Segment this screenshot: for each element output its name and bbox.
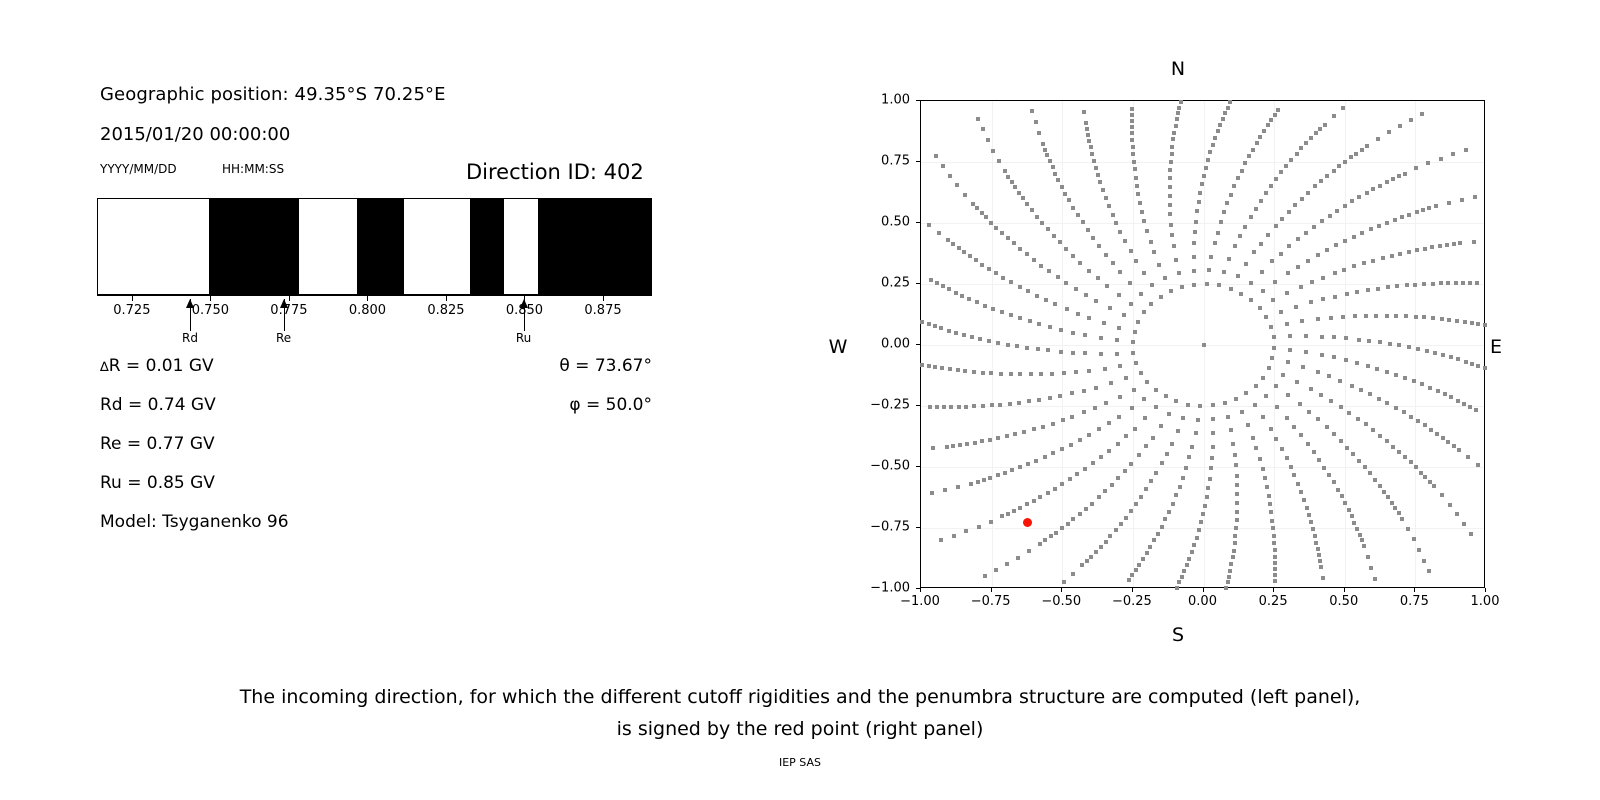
grid-point bbox=[1364, 314, 1368, 318]
grid-point bbox=[927, 322, 931, 326]
grid-point bbox=[1064, 247, 1068, 251]
grid-point bbox=[1316, 253, 1320, 257]
grid-point bbox=[1226, 580, 1230, 584]
grid-point bbox=[1270, 356, 1274, 360]
grid-point bbox=[1235, 501, 1239, 505]
grid-point bbox=[1016, 556, 1020, 560]
grid-point bbox=[1003, 471, 1007, 475]
grid-point bbox=[1267, 494, 1271, 498]
grid-point bbox=[1071, 254, 1075, 258]
grid-point bbox=[1232, 549, 1236, 553]
grid-point bbox=[1087, 433, 1091, 437]
grid-point bbox=[1288, 348, 1292, 352]
grid-point bbox=[1391, 445, 1395, 449]
grid-point bbox=[1094, 166, 1098, 170]
grid-point bbox=[1448, 503, 1452, 507]
grid-point bbox=[1159, 424, 1163, 428]
grid-point bbox=[1193, 230, 1197, 234]
grid-point bbox=[1131, 145, 1135, 149]
grid-point bbox=[1203, 504, 1207, 508]
grid-point bbox=[1223, 111, 1227, 115]
grid-point bbox=[1116, 476, 1120, 480]
compass-west-label: W bbox=[829, 336, 848, 358]
parameter-line: Re = 0.77 GV bbox=[100, 434, 215, 454]
grid-point bbox=[1309, 300, 1313, 304]
grid-point bbox=[1022, 430, 1026, 434]
grid-point bbox=[987, 267, 991, 271]
grid-point bbox=[1222, 270, 1226, 274]
grid-point bbox=[927, 364, 931, 368]
grid-point bbox=[1307, 513, 1311, 517]
grid-point bbox=[1232, 184, 1236, 188]
grid-point bbox=[1093, 406, 1097, 410]
grid-point bbox=[1292, 473, 1296, 477]
grid-point bbox=[1266, 233, 1270, 237]
grid-point bbox=[1061, 418, 1065, 422]
x-tick-label: −0.25 bbox=[1112, 594, 1152, 609]
grid-point bbox=[1264, 315, 1268, 319]
grid-point bbox=[1464, 360, 1468, 364]
grid-point bbox=[1078, 512, 1082, 516]
grid-point bbox=[1347, 411, 1351, 415]
grid-point bbox=[1134, 361, 1138, 365]
grid-point bbox=[1206, 158, 1210, 162]
grid-point bbox=[1163, 276, 1167, 280]
grid-point bbox=[1091, 236, 1095, 240]
grid-point bbox=[1118, 230, 1122, 234]
grid-point bbox=[1177, 271, 1181, 275]
grid-point bbox=[1458, 241, 1462, 245]
grid-point bbox=[1362, 261, 1366, 265]
grid-point bbox=[1086, 228, 1090, 232]
grid-point bbox=[1051, 451, 1055, 455]
grid-point bbox=[1385, 370, 1389, 374]
grid-point bbox=[1415, 248, 1419, 252]
grid-point bbox=[1321, 276, 1325, 280]
penumbra-band-forbidden bbox=[470, 199, 504, 294]
grid-point bbox=[1470, 321, 1474, 325]
y-tick bbox=[916, 161, 920, 162]
grid-point bbox=[1447, 318, 1451, 322]
grid-point bbox=[1142, 310, 1146, 314]
parameter-line: Ru = 0.85 GV bbox=[100, 473, 215, 493]
grid-point bbox=[1021, 196, 1025, 200]
grid-point bbox=[1198, 404, 1202, 408]
grid-point bbox=[1204, 166, 1208, 170]
grid-point bbox=[1261, 467, 1265, 471]
rigidity-marker-label-rd: Rd bbox=[182, 331, 198, 345]
grid-point bbox=[1373, 577, 1377, 581]
grid-point bbox=[1377, 397, 1381, 401]
grid-point bbox=[1407, 345, 1411, 349]
grid-point bbox=[1352, 521, 1356, 525]
grid-point bbox=[1234, 397, 1238, 401]
grid-point bbox=[1117, 326, 1121, 330]
grid-point bbox=[934, 154, 938, 158]
caption-line-1: The incoming direction, for which the di… bbox=[240, 686, 1361, 708]
grid-point bbox=[1137, 563, 1141, 567]
grid-point bbox=[1251, 436, 1255, 440]
grid-point bbox=[1259, 242, 1263, 246]
grid-point bbox=[1056, 275, 1060, 279]
grid-point bbox=[963, 369, 967, 373]
grid-point bbox=[1312, 225, 1316, 229]
grid-point bbox=[1229, 193, 1233, 197]
grid-point bbox=[1289, 158, 1293, 162]
grid-point bbox=[1030, 208, 1034, 212]
grid-point bbox=[1117, 293, 1121, 297]
penumbra-tick-label: 0.750 bbox=[192, 303, 229, 318]
grid-point bbox=[1369, 227, 1373, 231]
grid-point bbox=[1345, 446, 1349, 450]
grid-point bbox=[931, 446, 935, 450]
grid-point bbox=[1205, 495, 1209, 499]
grid-point bbox=[1382, 490, 1386, 494]
grid-point bbox=[1431, 316, 1435, 320]
grid-point bbox=[1218, 123, 1222, 127]
grid-point bbox=[1228, 100, 1232, 104]
y-tick bbox=[916, 527, 920, 528]
grid-point bbox=[1140, 210, 1144, 214]
grid-point bbox=[1425, 349, 1429, 353]
grid-point bbox=[1136, 192, 1140, 196]
grid-point bbox=[1149, 240, 1153, 244]
grid-point bbox=[1473, 195, 1477, 199]
y-tick bbox=[916, 283, 920, 284]
grid-point bbox=[1005, 434, 1009, 438]
grid-point bbox=[996, 436, 1000, 440]
grid-point bbox=[1247, 154, 1251, 158]
grid-point bbox=[1350, 514, 1354, 518]
grid-point bbox=[920, 320, 924, 324]
grid-point bbox=[1376, 287, 1380, 291]
grid-point bbox=[1456, 357, 1460, 361]
grid-point bbox=[1096, 173, 1100, 177]
grid-point bbox=[1080, 563, 1084, 567]
x-tick-label: −1.00 bbox=[900, 594, 940, 609]
grid-point bbox=[1134, 176, 1138, 180]
grid-point bbox=[1409, 118, 1413, 122]
grid-point bbox=[1243, 225, 1247, 229]
grid-point bbox=[1385, 401, 1389, 405]
grid-point bbox=[1154, 405, 1158, 409]
grid-point bbox=[1285, 322, 1289, 326]
grid-point bbox=[1003, 169, 1007, 173]
grid-point bbox=[1233, 534, 1237, 538]
grid-point bbox=[1286, 271, 1290, 275]
grid-point bbox=[1135, 184, 1139, 188]
grid-point bbox=[1263, 476, 1267, 480]
grid-point bbox=[1325, 248, 1329, 252]
grid-point bbox=[1180, 285, 1184, 289]
grid-point bbox=[928, 405, 932, 409]
grid-point bbox=[1229, 287, 1233, 291]
grid-point bbox=[1169, 160, 1173, 164]
grid-point bbox=[1039, 372, 1043, 376]
grid-point bbox=[1000, 310, 1004, 314]
gridline-vertical bbox=[1345, 101, 1346, 587]
grid-point bbox=[1172, 131, 1176, 135]
grid-point bbox=[1108, 534, 1112, 538]
grid-point bbox=[1170, 442, 1174, 446]
grid-point bbox=[1053, 172, 1057, 176]
grid-point bbox=[1414, 315, 1418, 319]
grid-point bbox=[1313, 184, 1317, 188]
grid-point bbox=[1274, 437, 1278, 441]
grid-point bbox=[933, 365, 937, 369]
grid-point bbox=[1327, 374, 1331, 378]
grid-point bbox=[1360, 231, 1364, 235]
grid-point bbox=[1167, 510, 1171, 514]
grid-point bbox=[1318, 559, 1322, 563]
grid-point bbox=[1343, 160, 1347, 164]
grid-point bbox=[1317, 458, 1321, 462]
grid-point bbox=[1439, 281, 1443, 285]
grid-point bbox=[1053, 302, 1057, 306]
grid-point bbox=[1274, 177, 1278, 181]
grid-point bbox=[1097, 495, 1101, 499]
geographic-position-label: Geographic position: 49.35°S 70.25°E bbox=[100, 84, 446, 105]
grid-point bbox=[1356, 417, 1360, 421]
compass-north-label: N bbox=[1171, 58, 1185, 80]
grid-point bbox=[1142, 271, 1146, 275]
grid-point bbox=[1235, 510, 1239, 514]
grid-point bbox=[1129, 509, 1133, 513]
grid-point bbox=[1101, 188, 1105, 192]
grid-point bbox=[1316, 317, 1320, 321]
grid-point bbox=[1307, 410, 1311, 414]
grid-point bbox=[1194, 431, 1198, 435]
grid-point bbox=[1398, 124, 1402, 128]
grid-point bbox=[1466, 455, 1470, 459]
grid-point bbox=[1145, 229, 1149, 233]
grid-point bbox=[1385, 221, 1389, 225]
grid-point bbox=[1312, 450, 1316, 454]
grid-point bbox=[1306, 191, 1310, 195]
grid-point bbox=[1304, 334, 1308, 338]
grid-point bbox=[1347, 508, 1351, 512]
y-tick bbox=[916, 222, 920, 223]
grid-point bbox=[1316, 547, 1320, 551]
grid-point bbox=[1419, 471, 1423, 475]
grid-point bbox=[1365, 144, 1369, 148]
grid-point bbox=[1182, 569, 1186, 573]
grid-point bbox=[935, 281, 939, 285]
grid-point bbox=[1329, 399, 1333, 403]
grid-point bbox=[1168, 185, 1172, 189]
grid-point bbox=[1083, 467, 1087, 471]
grid-point bbox=[1273, 113, 1277, 117]
x-tick-label: −0.50 bbox=[1041, 594, 1081, 609]
grid-point bbox=[1107, 449, 1111, 453]
grid-point bbox=[1233, 541, 1237, 545]
grid-point bbox=[963, 193, 967, 197]
grid-point bbox=[1363, 465, 1367, 469]
grid-point bbox=[1430, 245, 1434, 249]
grid-point bbox=[1118, 270, 1122, 274]
grid-point bbox=[1266, 123, 1270, 127]
grid-point bbox=[1273, 561, 1277, 565]
grid-point bbox=[1099, 352, 1103, 356]
grid-point bbox=[1071, 517, 1075, 521]
gridline-vertical bbox=[992, 101, 993, 587]
grid-point bbox=[1187, 557, 1191, 561]
grid-point bbox=[1192, 283, 1196, 287]
grid-point bbox=[1154, 471, 1158, 475]
grid-point bbox=[1258, 306, 1262, 310]
grid-point bbox=[1385, 314, 1389, 318]
grid-point bbox=[1109, 381, 1113, 385]
grid-point bbox=[1462, 402, 1466, 406]
grid-point bbox=[1096, 276, 1100, 280]
grid-point bbox=[1084, 293, 1088, 297]
grid-point bbox=[1457, 448, 1461, 452]
grid-point bbox=[1160, 525, 1164, 529]
grid-point bbox=[1258, 457, 1262, 461]
grid-point bbox=[1115, 352, 1119, 356]
y-tick bbox=[916, 100, 920, 101]
grid-point bbox=[1192, 543, 1196, 547]
grid-point bbox=[991, 149, 995, 153]
grid-point bbox=[1270, 259, 1274, 263]
grid-point bbox=[1337, 164, 1341, 168]
parameter-line: ∆R = 0.01 GV bbox=[100, 356, 214, 376]
grid-point bbox=[1198, 191, 1202, 195]
gridline-vertical bbox=[1274, 101, 1275, 587]
grid-point bbox=[1327, 473, 1331, 477]
grid-point bbox=[929, 278, 933, 282]
grid-point bbox=[1440, 493, 1444, 497]
grid-point bbox=[1168, 212, 1172, 216]
grid-point bbox=[1405, 283, 1409, 287]
grid-point bbox=[1449, 395, 1453, 399]
grid-point bbox=[1429, 428, 1433, 432]
grid-point bbox=[1075, 472, 1079, 476]
grid-point bbox=[1034, 459, 1038, 463]
grid-point bbox=[1094, 386, 1098, 390]
grid-point bbox=[1446, 440, 1450, 444]
grid-point bbox=[1070, 415, 1074, 419]
y-tick-label: −0.50 bbox=[870, 459, 910, 474]
grid-point bbox=[947, 329, 951, 333]
grid-point bbox=[1423, 475, 1427, 479]
grid-point bbox=[1027, 549, 1031, 553]
grid-point bbox=[1316, 370, 1320, 374]
grid-point bbox=[1200, 182, 1204, 186]
grid-point bbox=[1123, 469, 1127, 473]
grid-point bbox=[1400, 215, 1404, 219]
grid-point bbox=[1087, 269, 1091, 273]
grid-point bbox=[1197, 528, 1201, 532]
grid-point bbox=[1134, 568, 1138, 572]
grid-point bbox=[1265, 485, 1269, 489]
grid-point bbox=[1341, 106, 1345, 110]
grid-point bbox=[1035, 215, 1039, 219]
grid-point bbox=[1427, 206, 1431, 210]
grid-point bbox=[1168, 194, 1172, 198]
grid-point bbox=[1084, 507, 1088, 511]
grid-point bbox=[1032, 499, 1036, 503]
grid-point bbox=[942, 405, 946, 409]
grid-point bbox=[980, 211, 984, 215]
grid-point bbox=[1320, 353, 1324, 357]
grid-point bbox=[1169, 289, 1173, 293]
y-tick-label: −0.75 bbox=[870, 520, 910, 535]
grid-point bbox=[1332, 335, 1336, 339]
grid-point bbox=[1122, 313, 1126, 317]
grid-point bbox=[1310, 280, 1314, 284]
grid-point bbox=[927, 223, 931, 227]
grid-point bbox=[1185, 563, 1189, 567]
grid-point bbox=[1130, 131, 1134, 135]
grid-point bbox=[1281, 373, 1285, 377]
x-tick bbox=[1414, 588, 1415, 592]
grid-point bbox=[1332, 169, 1336, 173]
grid-point bbox=[1286, 360, 1290, 364]
grid-point bbox=[1148, 545, 1152, 549]
grid-point bbox=[984, 215, 988, 219]
grid-point bbox=[1332, 432, 1336, 436]
grid-point bbox=[1271, 526, 1275, 530]
grid-point bbox=[1386, 285, 1390, 289]
grid-point bbox=[1274, 224, 1278, 228]
grid-point bbox=[1034, 120, 1038, 124]
grid-point bbox=[1403, 376, 1407, 380]
grid-point bbox=[1393, 506, 1397, 510]
grid-point bbox=[1104, 196, 1108, 200]
grid-point bbox=[1087, 316, 1091, 320]
grid-point bbox=[941, 164, 945, 168]
grid-point bbox=[972, 404, 976, 408]
grid-point bbox=[1360, 538, 1364, 542]
grid-point bbox=[1133, 330, 1137, 334]
grid-point bbox=[975, 300, 979, 304]
x-tick-label: 1.00 bbox=[1471, 594, 1500, 609]
grid-point bbox=[1393, 218, 1397, 222]
grid-point bbox=[1236, 176, 1240, 180]
grid-point bbox=[1449, 355, 1453, 359]
grid-point bbox=[1116, 442, 1120, 446]
x-tick-label: 0.25 bbox=[1259, 594, 1288, 609]
grid-point bbox=[1001, 276, 1005, 280]
grid-point bbox=[975, 206, 979, 210]
grid-point bbox=[1254, 207, 1258, 211]
grid-point bbox=[962, 333, 966, 337]
grid-point bbox=[1468, 281, 1472, 285]
grid-point bbox=[1131, 351, 1135, 355]
penumbra-tick bbox=[132, 295, 133, 301]
grid-point bbox=[1119, 522, 1123, 526]
grid-point bbox=[1018, 316, 1022, 320]
grid-point bbox=[967, 297, 971, 301]
grid-point bbox=[1238, 234, 1242, 238]
grid-point bbox=[1037, 398, 1041, 402]
grid-point bbox=[941, 284, 945, 288]
grid-point bbox=[1416, 347, 1420, 351]
grid-point bbox=[1150, 283, 1154, 287]
grid-point bbox=[1355, 527, 1359, 531]
grid-point bbox=[1274, 384, 1278, 388]
grid-point bbox=[1164, 394, 1168, 398]
grid-point bbox=[1018, 285, 1022, 289]
grid-point bbox=[1226, 415, 1230, 419]
grid-point bbox=[1285, 416, 1289, 420]
grid-point bbox=[1107, 204, 1111, 208]
grid-point bbox=[1008, 402, 1012, 406]
grid-point bbox=[1018, 247, 1022, 251]
grid-point bbox=[946, 238, 950, 242]
y-tick-label: −0.25 bbox=[870, 398, 910, 413]
